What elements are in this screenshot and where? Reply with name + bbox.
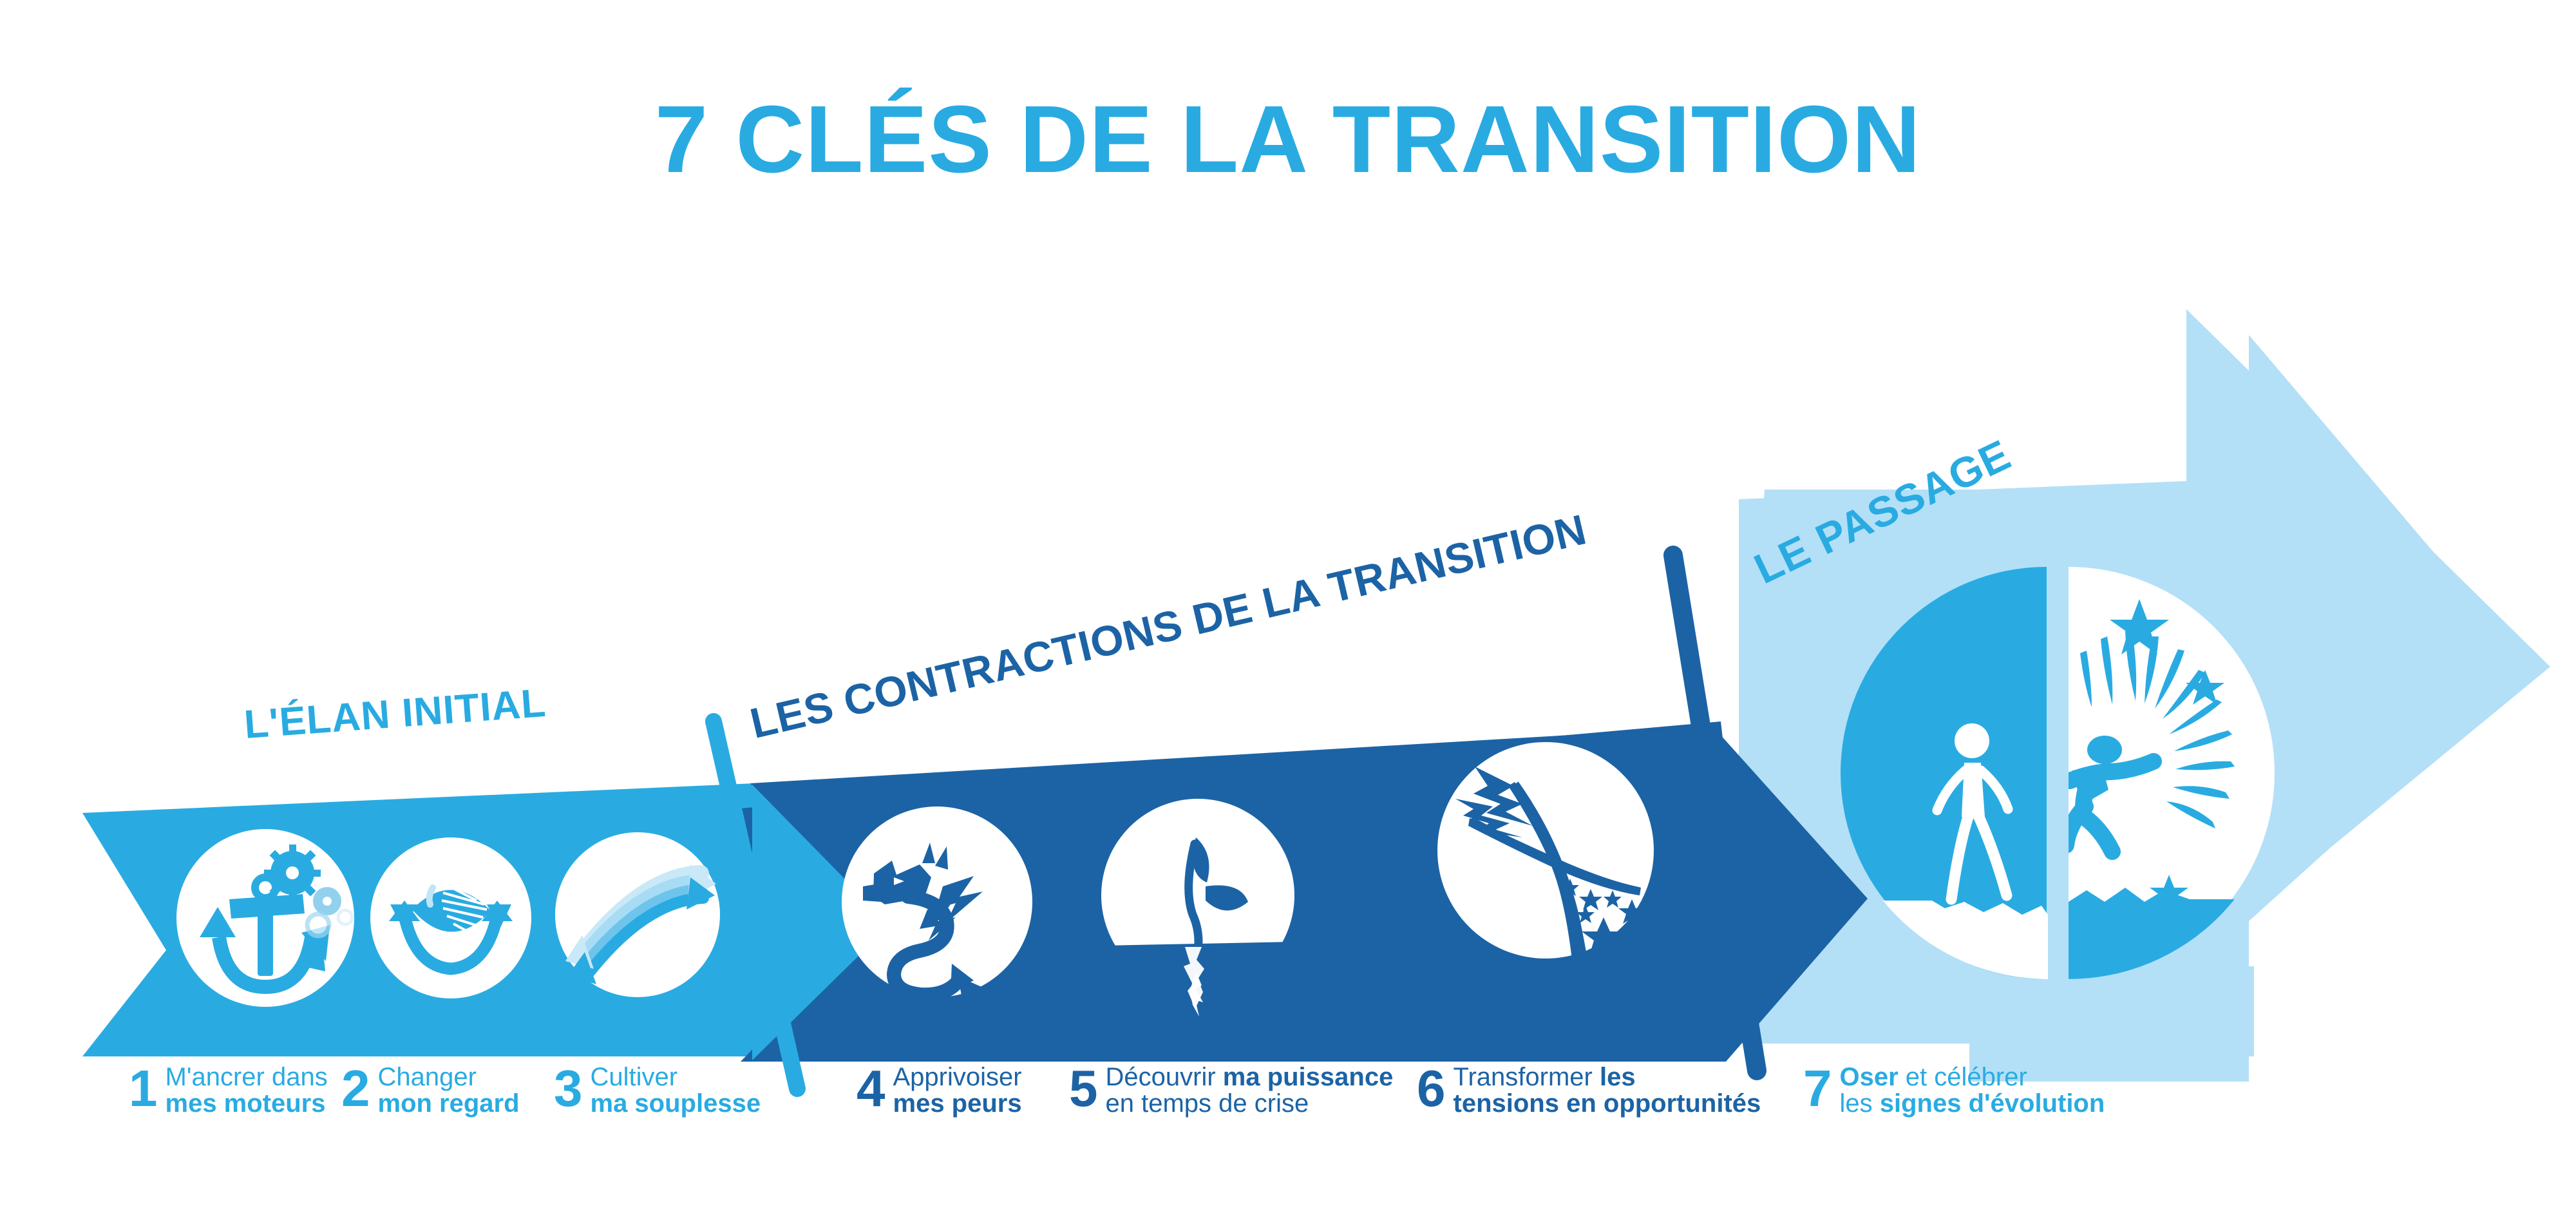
legend-text-7: Oser et célébrerles signes d'évolution — [1840, 1063, 2105, 1117]
legend-line2-7: les signes d'évolution — [1840, 1091, 2105, 1117]
icon-2-eye-refresh — [370, 837, 531, 998]
legend-item-2: 2Changermon regard — [341, 1063, 520, 1117]
legend-line2-4: mes peurs — [893, 1091, 1022, 1117]
legend-number-7: 7 — [1803, 1063, 1832, 1114]
legend-line1-5: Découvrir ma puissance — [1106, 1064, 1394, 1091]
legend-item-6: 6Transformer lestensions en opportunités — [1417, 1063, 1761, 1117]
gear-large-icon — [264, 845, 321, 901]
legend-line1-3: Cultiver — [591, 1064, 761, 1091]
legend-number-3: 3 — [554, 1063, 583, 1114]
legend-number-4: 4 — [857, 1063, 885, 1114]
legend-item-3: 3Cultiverma souplesse — [554, 1063, 761, 1117]
legend-item-4: 4Apprivoisermes peurs — [857, 1063, 1022, 1117]
legend-line1-2: Changer — [378, 1064, 520, 1091]
icon-3-flexible-band — [555, 832, 720, 997]
legend-line2-2: mon regard — [378, 1091, 520, 1117]
legend-line1-7: Oser et célébrer — [1840, 1064, 2105, 1091]
legend-text-1: M'ancrer dansmes moteurs — [166, 1063, 328, 1117]
infographic-canvas: 7 CLÉS DE LA TRANSITION L'ÉLAN INITIAL L… — [0, 0, 2576, 1231]
legend-number-1: 1 — [129, 1063, 158, 1114]
legend-text-6: Transformer lestensions en opportunités — [1454, 1063, 1761, 1117]
gear-tiny-icon — [338, 910, 352, 924]
legend-line1-1: M'ancrer dans — [166, 1064, 328, 1091]
legend-number-2: 2 — [341, 1063, 370, 1114]
legend-item-7: 7Oser et célébrerles signes d'évolution — [1803, 1063, 2105, 1117]
legend-line2-5: en temps de crise — [1106, 1091, 1394, 1117]
legend-item-1: 1M'ancrer dansmes moteurs — [129, 1063, 328, 1117]
legend-text-4: Apprivoisermes peurs — [893, 1063, 1022, 1117]
legend-line2-1: mes moteurs — [166, 1091, 328, 1117]
legend-number-6: 6 — [1417, 1063, 1446, 1114]
legend-number-5: 5 — [1069, 1063, 1098, 1114]
icon-1-anchor-gears — [176, 829, 354, 1007]
gear-small-icon — [307, 914, 329, 936]
legend: 1M'ancrer dansmes moteurs2Changermon reg… — [0, 1063, 2576, 1159]
legend-line1-6: Transformer les — [1454, 1064, 1761, 1091]
legend-text-2: Changermon regard — [378, 1063, 520, 1117]
legend-item-5: 5Découvrir ma puissanceen temps de crise — [1069, 1063, 1393, 1117]
page-title: 7 CLÉS DE LA TRANSITION — [0, 85, 2576, 195]
legend-text-3: Cultiverma souplesse — [591, 1063, 761, 1117]
legend-line2-3: ma souplesse — [591, 1091, 761, 1117]
legend-line1-4: Apprivoiser — [893, 1064, 1022, 1091]
icon-5-sprout-ground — [1101, 799, 1294, 1036]
gear-medium-icon — [313, 887, 341, 915]
legend-line2-6: tensions en opportunités — [1454, 1091, 1761, 1117]
legend-text-5: Découvrir ma puissanceen temps de crise — [1106, 1063, 1394, 1117]
